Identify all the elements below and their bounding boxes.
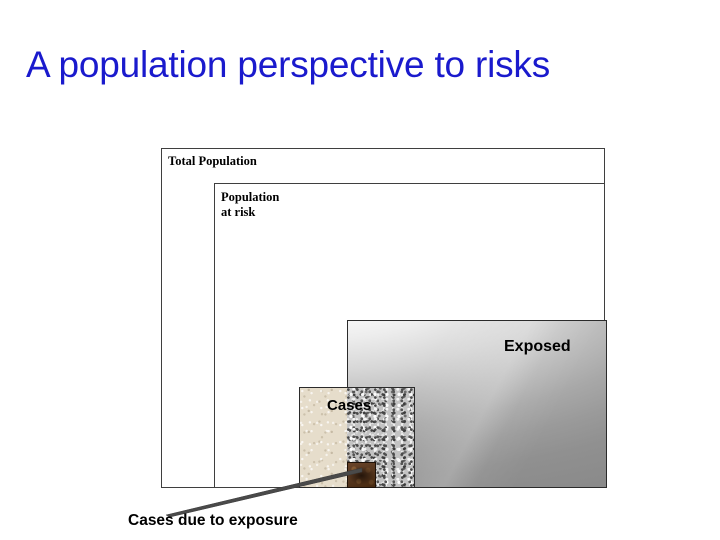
box-population-at-risk-label: Population at risk (221, 190, 279, 220)
box-cases-due-to-exposure (347, 462, 376, 488)
box-total-population-label: Total Population (168, 154, 257, 169)
caption-cases-due-to-exposure: Cases due to exposure (128, 512, 298, 530)
population-risk-diagram: Total Population Population at risk Expo… (0, 0, 720, 540)
box-exposed-label: Exposed (504, 338, 571, 356)
box-cases-label: Cases (327, 397, 371, 414)
